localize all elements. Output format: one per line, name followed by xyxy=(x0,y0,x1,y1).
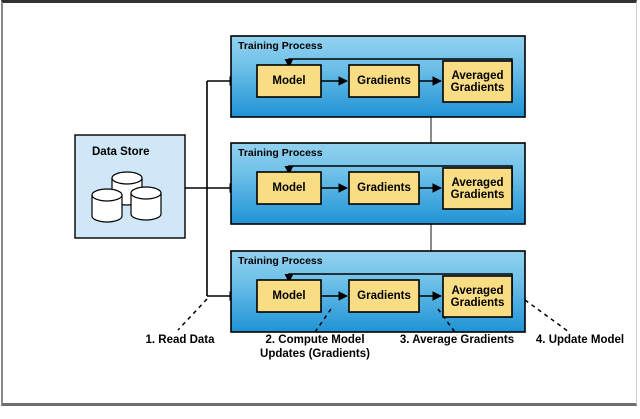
averaged-line-2: Gradients xyxy=(451,82,505,94)
diagram-canvas: Data Store Training Process Model Gradie… xyxy=(0,0,640,419)
training-process-2-title: Training Process xyxy=(238,147,323,159)
read-data-connectors xyxy=(185,81,238,296)
training-process-2-averaged-label: Averaged Gradients xyxy=(443,168,512,209)
training-process-1-gradients-label: Gradients xyxy=(349,65,419,97)
averaged-line-2: Gradients xyxy=(451,189,505,201)
training-process-2-model-label: Model xyxy=(257,172,321,204)
step-1-label: 1. Read Data xyxy=(125,333,235,347)
training-process-3-title: Training Process xyxy=(238,255,323,267)
training-process-3-gradients-label: Gradients xyxy=(349,280,419,312)
averaged-line-1: Averaged xyxy=(452,70,504,82)
step-2-line-2: Updates (Gradients) xyxy=(245,347,385,361)
figure-bottom-caption xyxy=(0,408,640,419)
step-2-label: 2. Compute Model Updates (Gradients) xyxy=(245,333,385,361)
datastore-label: Data Store xyxy=(92,146,150,158)
training-process-3-model-label: Model xyxy=(257,280,321,312)
averaged-line-1: Averaged xyxy=(452,285,504,297)
training-process-2-gradients-label: Gradients xyxy=(349,172,419,204)
training-process-1-title: Training Process xyxy=(238,40,323,52)
averaged-line-1: Averaged xyxy=(452,177,504,189)
step-1-line-1: 1. Read Data xyxy=(125,333,235,347)
averaged-line-2: Gradients xyxy=(451,297,505,309)
training-process-1-model-label: Model xyxy=(257,65,321,97)
training-process-3-averaged-label: Averaged Gradients xyxy=(443,276,512,317)
step-4-label: 4. Update Model xyxy=(525,333,635,347)
step-3-line-1: 3. Average Gradients xyxy=(392,333,522,347)
step-3-label: 3. Average Gradients xyxy=(392,333,522,347)
step-4-line-1: 4. Update Model xyxy=(525,333,635,347)
training-process-1-averaged-label: Averaged Gradients xyxy=(443,61,512,102)
step-2-line-1: 2. Compute Model xyxy=(245,333,385,347)
